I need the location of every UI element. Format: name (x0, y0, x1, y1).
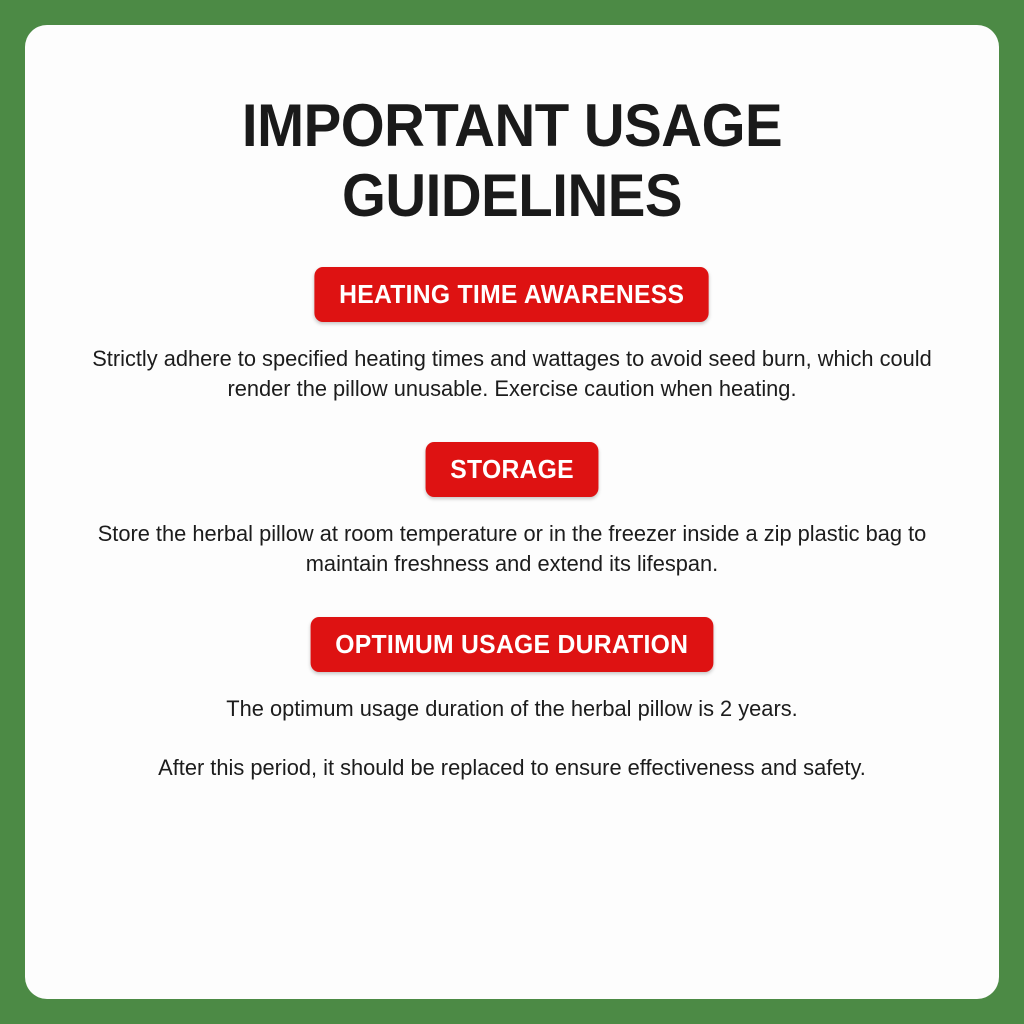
section-badge-optimum-usage-duration: OPTIMUM USAGE DURATION (311, 617, 713, 672)
section-storage: STORAGE Store the herbal pillow at room … (25, 442, 999, 579)
section-badge-storage: STORAGE (425, 442, 598, 497)
section-paragraph-optimum-usage-duration-1: The optimum usage duration of the herbal… (58, 694, 966, 724)
section-optimum-usage-duration: OPTIMUM USAGE DURATION The optimum usage… (25, 617, 999, 783)
page-title: IMPORTANT USAGE GUIDELINES (54, 25, 970, 231)
section-heating-time-awareness: HEATING TIME AWARENESS Strictly adhere t… (25, 267, 999, 404)
section-paragraph-heating-time-awareness: Strictly adhere to specified heating tim… (58, 344, 966, 404)
section-badge-heating-time-awareness: HEATING TIME AWARENESS (315, 267, 710, 322)
section-paragraph-storage: Store the herbal pillow at room temperat… (58, 519, 966, 579)
guidelines-section-list: HEATING TIME AWARENESS Strictly adhere t… (25, 267, 999, 783)
section-paragraph-optimum-usage-duration-2: After this period, it should be replaced… (58, 753, 966, 783)
guidelines-card: IMPORTANT USAGE GUIDELINES HEATING TIME … (25, 25, 999, 999)
